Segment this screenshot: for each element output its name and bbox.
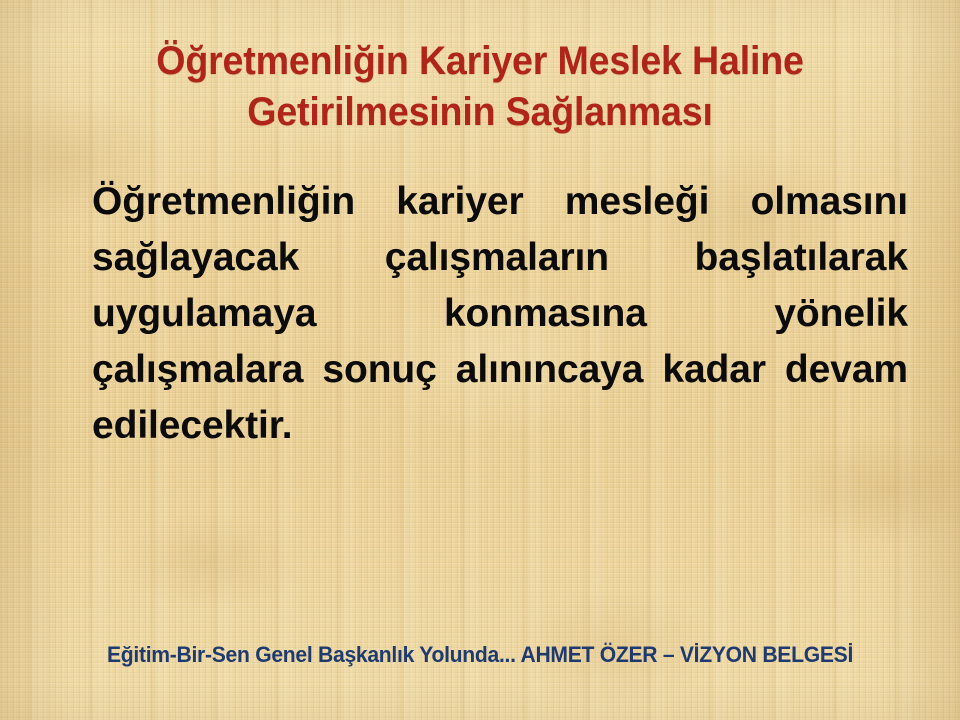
slide-content: Öğretmenliğin Kariyer Meslek Haline Geti… — [0, 0, 960, 720]
slide-title-line-1: Öğretmenliğin Kariyer Meslek Haline — [85, 36, 875, 87]
body-line-4: çalışmalara sonuç alınıncaya kadar devam — [92, 342, 908, 398]
slide-footer: Eğitim-Bir-Sen Genel Başkanlık Yolunda..… — [19, 641, 941, 669]
body-line-3: uygulamaya konmasına yönelik — [92, 286, 908, 342]
slide-body-text: Öğretmenliğin kariyer mesleği olmasını s… — [92, 174, 908, 454]
slide-title-line-2: Getirilmesinin Sağlanması — [85, 87, 875, 138]
body-line-1: Öğretmenliğin kariyer mesleği olmasını — [92, 174, 908, 230]
presentation-slide: Öğretmenliğin Kariyer Meslek Haline Geti… — [0, 0, 960, 720]
body-line-5: edilecektir. — [92, 398, 908, 454]
body-line-2: sağlayacak çalışmaların başlatılarak — [92, 230, 908, 286]
slide-title: Öğretmenliğin Kariyer Meslek Haline Geti… — [85, 36, 875, 138]
